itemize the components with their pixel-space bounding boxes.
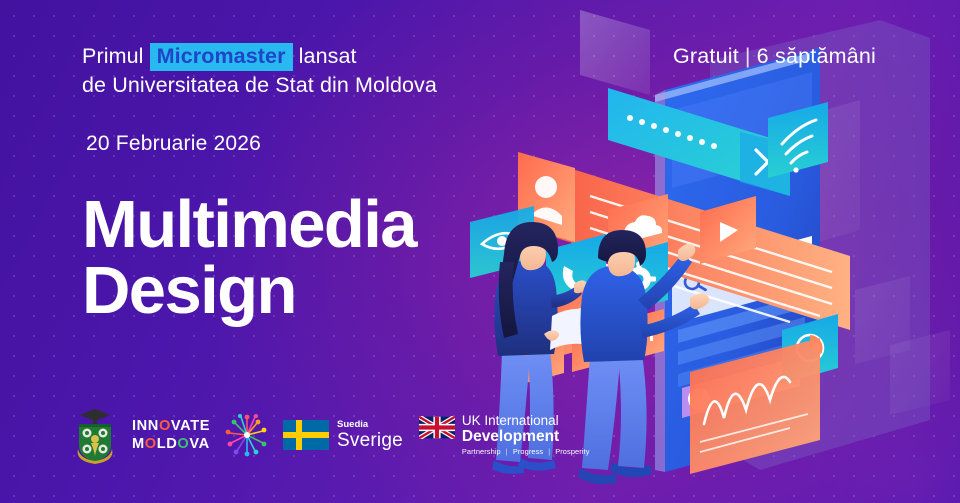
kicker-pre: Primul — [82, 44, 144, 68]
moldova-text-c: VA — [189, 436, 209, 452]
uk-tag-2: Progress — [513, 447, 543, 456]
union-jack-icon — [419, 416, 455, 439]
moldova-o-2: O — [177, 436, 189, 452]
moldova-text-a: M — [132, 436, 145, 452]
partner-logo-bar: INNOVATE MOLDOVA — [72, 405, 590, 465]
innovate-text-b: VATE — [171, 418, 210, 434]
uk-line-1: UK International — [462, 414, 590, 428]
uk-tag-1: Partnership — [462, 447, 501, 456]
innovate-moldova-logo: INNOVATE MOLDOVA — [132, 419, 210, 451]
kicker-highlight: Micromaster — [150, 43, 293, 71]
innovate-o-red: O — [159, 418, 171, 434]
meta-duration-label: 6 săptămâni — [757, 44, 876, 68]
uk-tag-sep-2: | — [543, 447, 555, 456]
sweden-logo: Suedia Sverige — [283, 420, 403, 451]
meta-free-label: Gratuit — [673, 44, 739, 68]
promo-banner: Primul Micromaster lansat de Universitat… — [0, 0, 960, 503]
usm-crest-icon — [72, 405, 118, 465]
innovate-text-a: INN — [132, 418, 159, 434]
course-meta: Gratuit|6 săptămâni — [673, 44, 876, 69]
meta-separator: | — [739, 44, 757, 68]
uk-tag-sep-1: | — [501, 447, 513, 456]
uk-tag-3: Prosperity — [555, 447, 589, 456]
moldova-text-b: LD — [157, 436, 178, 452]
uk-intl-development-logo: UK International Development Partnership… — [419, 414, 590, 455]
kicker-headline: Primul Micromaster lansat de Universitat… — [82, 42, 437, 100]
page-title: Multimedia Design — [82, 192, 416, 324]
course-date: 20 Februarie 2026 — [86, 132, 261, 156]
uk-line-2: Development — [462, 429, 590, 445]
uk-tagline: Partnership|Progress|Prosperity — [462, 448, 590, 455]
network-burst-icon — [223, 411, 271, 459]
kicker-post: lansat — [299, 44, 357, 68]
moldova-o-1: O — [145, 436, 157, 452]
sweden-flag-icon — [283, 420, 329, 450]
kicker-line2: de Universitatea de Stat din Moldova — [82, 71, 437, 100]
title-line-2: Design — [82, 258, 416, 324]
usm-logo — [72, 405, 132, 465]
sweden-label-big: Sverige — [337, 431, 403, 450]
title-line-1: Multimedia — [82, 192, 416, 258]
sweden-label-small: Suedia — [337, 420, 403, 430]
